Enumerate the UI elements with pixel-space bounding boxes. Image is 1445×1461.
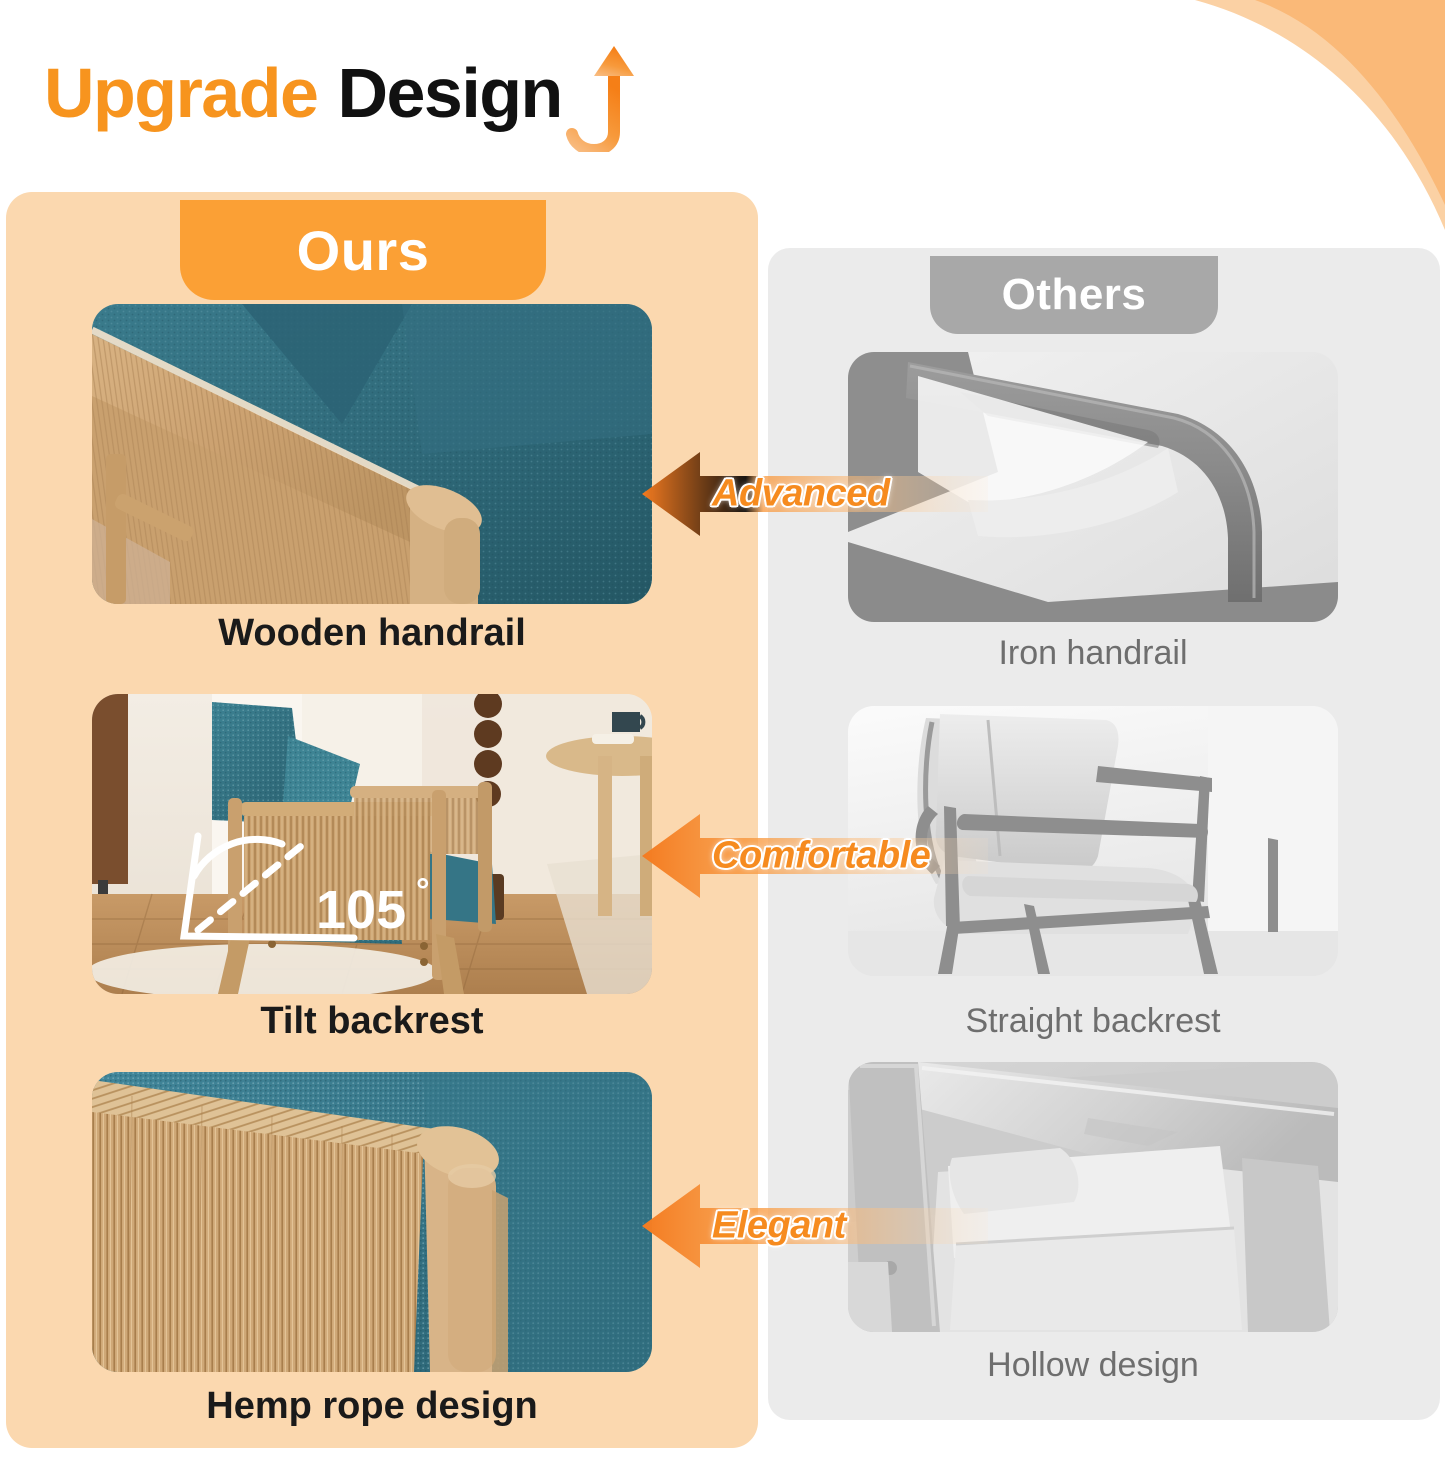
- badge-ours: Ours: [180, 200, 546, 300]
- title-design: Design: [337, 54, 561, 132]
- comparison-label-comfortable: Comfortable: [712, 835, 930, 878]
- comparison-label-elegant: Elegant: [712, 1205, 846, 1248]
- page-header: UpgradeDesign: [44, 34, 636, 152]
- caption-ours-1: Wooden handrail: [92, 612, 652, 655]
- comparison-label-advanced: Advanced: [712, 473, 890, 516]
- photo-tilt-backrest: [92, 694, 652, 994]
- page-title: UpgradeDesign: [44, 58, 562, 128]
- badge-others: Others: [930, 256, 1218, 334]
- photo-wooden-handrail: [92, 304, 652, 604]
- caption-others-2: Straight backrest: [848, 1002, 1338, 1041]
- comparison-arrow-advanced: Advanced: [638, 446, 988, 542]
- curved-up-arrow-icon: [566, 40, 636, 152]
- caption-ours-2: Tilt backrest: [92, 1000, 652, 1043]
- title-upgrade: Upgrade: [44, 54, 317, 132]
- corner-decoration: [1105, 0, 1445, 230]
- photo-hemp-rope-design: [92, 1072, 652, 1372]
- comparison-arrow-comfortable: Comfortable: [638, 808, 988, 904]
- caption-others-1: Iron handrail: [848, 634, 1338, 673]
- caption-ours-3: Hemp rope design: [92, 1385, 652, 1428]
- comparison-arrow-elegant: Elegant: [638, 1178, 988, 1274]
- caption-others-3: Hollow design: [848, 1346, 1338, 1385]
